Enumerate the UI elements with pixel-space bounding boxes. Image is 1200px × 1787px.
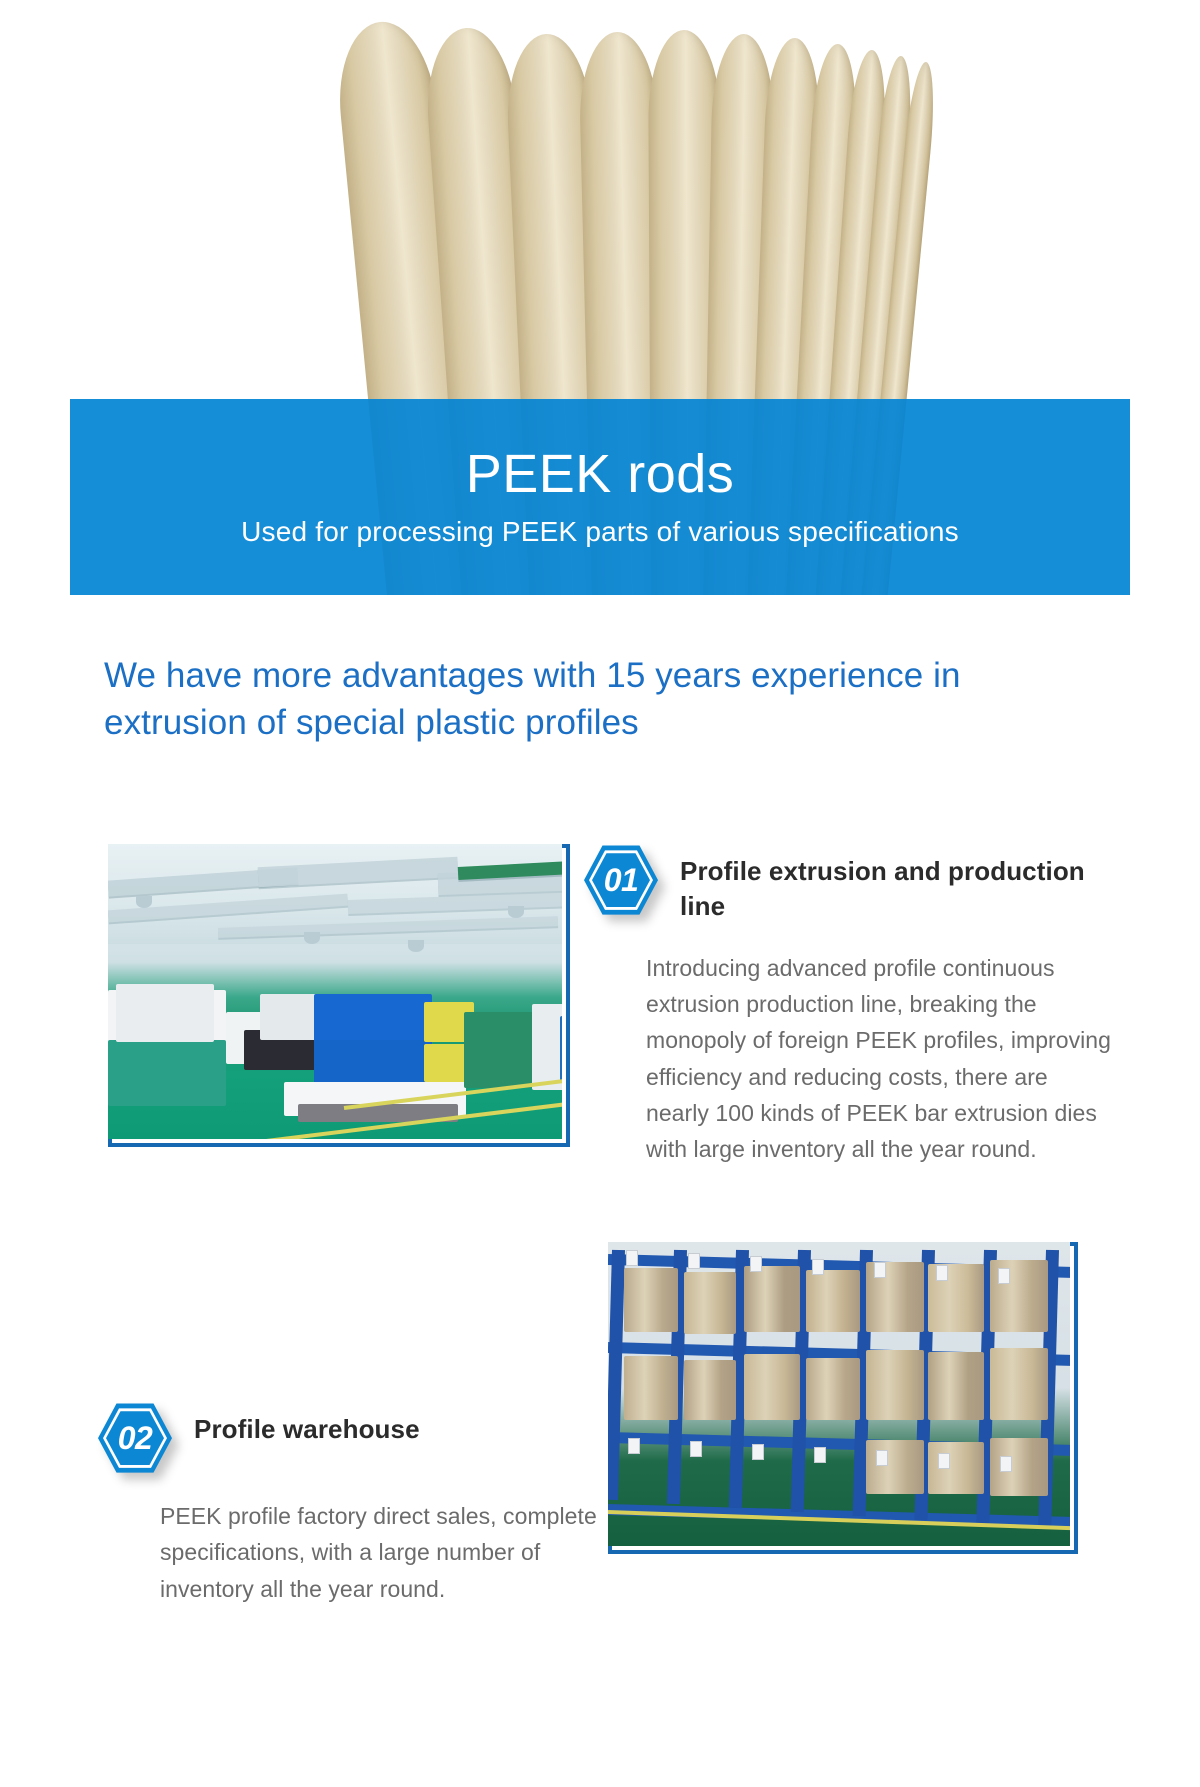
rod-bundle bbox=[928, 1352, 984, 1420]
inventory-tag bbox=[690, 1441, 702, 1457]
factory-machine bbox=[108, 1040, 226, 1106]
feature-01-text: 01 Profile extrusion and production line… bbox=[584, 844, 1130, 1168]
ceiling-lamp bbox=[408, 940, 424, 952]
inventory-tag bbox=[874, 1262, 886, 1278]
feature-02-header: 02 Profile warehouse bbox=[98, 1402, 598, 1474]
feature-02-text: 02 Profile warehouse PEEK profile factor… bbox=[98, 1402, 598, 1607]
rod-bundle bbox=[928, 1442, 984, 1494]
ceiling-lamp bbox=[508, 906, 524, 918]
feature-01-photo-frame bbox=[108, 844, 570, 1147]
feature-01-header: 01 Profile extrusion and production line bbox=[584, 844, 1130, 924]
page-title: PEEK rods bbox=[466, 446, 735, 503]
ceiling-lamp bbox=[304, 932, 320, 944]
warehouse-photo bbox=[608, 1242, 1070, 1546]
factory-machine bbox=[560, 1016, 562, 1082]
factory-machine bbox=[314, 1040, 432, 1086]
rod-bundle bbox=[806, 1358, 860, 1420]
rod-bundle bbox=[624, 1356, 678, 1420]
inventory-tag bbox=[936, 1265, 948, 1281]
hexagon-badge-icon: 02 bbox=[98, 1402, 172, 1474]
inventory-tag bbox=[752, 1444, 764, 1460]
factory-machine bbox=[116, 984, 214, 1042]
rod-bundle bbox=[684, 1360, 736, 1420]
feature-02-title: Profile warehouse bbox=[194, 1402, 420, 1447]
feature-01-title: Profile extrusion and production line bbox=[680, 844, 1130, 924]
rod-bundle bbox=[866, 1440, 924, 1494]
feature-block-02: 02 Profile warehouse PEEK profile factor… bbox=[70, 1242, 1130, 1632]
inventory-tag bbox=[812, 1259, 824, 1275]
section-headline: We have more advantages with 15 years ex… bbox=[70, 653, 1130, 746]
inventory-tag bbox=[750, 1256, 762, 1272]
rod-bundle bbox=[684, 1272, 736, 1334]
page-subtitle: Used for processing PEEK parts of variou… bbox=[241, 516, 959, 548]
inventory-tag bbox=[876, 1450, 888, 1466]
rack-column bbox=[608, 1250, 625, 1500]
factory-machine bbox=[464, 1012, 536, 1088]
inventory-tag bbox=[626, 1250, 638, 1266]
hexagon-badge-icon: 01 bbox=[584, 844, 658, 916]
hero-section: PEEK rods Used for processing PEEK parts… bbox=[70, 0, 1130, 595]
feature-02-number: 02 bbox=[98, 1402, 172, 1474]
product-detail-page: PEEK rods Used for processing PEEK parts… bbox=[70, 0, 1130, 1787]
feature-02-photo-frame bbox=[608, 1242, 1078, 1554]
hero-banner: PEEK rods Used for processing PEEK parts… bbox=[70, 399, 1130, 595]
factory-photo bbox=[108, 844, 562, 1139]
rod-bundle bbox=[744, 1266, 800, 1332]
rod-bundle bbox=[990, 1348, 1048, 1420]
factory-machine bbox=[532, 1004, 562, 1090]
inventory-tag bbox=[1000, 1456, 1012, 1472]
ceiling-lamp bbox=[136, 896, 152, 908]
feature-block-01: 01 Profile extrusion and production line… bbox=[70, 834, 1130, 1194]
inventory-tag bbox=[998, 1268, 1010, 1284]
rod-bundle bbox=[866, 1350, 924, 1420]
feature-02-body: PEEK profile factory direct sales, compl… bbox=[160, 1498, 600, 1607]
rod-bundle bbox=[624, 1268, 678, 1332]
inventory-tag bbox=[814, 1447, 826, 1463]
inventory-tag bbox=[688, 1253, 700, 1269]
inventory-tag bbox=[628, 1438, 640, 1454]
rod-bundle bbox=[806, 1270, 860, 1332]
rod-bundle bbox=[990, 1438, 1048, 1496]
rod-bundle bbox=[744, 1354, 800, 1420]
inventory-tag bbox=[938, 1453, 950, 1469]
feature-01-body: Introducing advanced profile continuous … bbox=[646, 950, 1116, 1168]
feature-01-number: 01 bbox=[584, 844, 658, 916]
